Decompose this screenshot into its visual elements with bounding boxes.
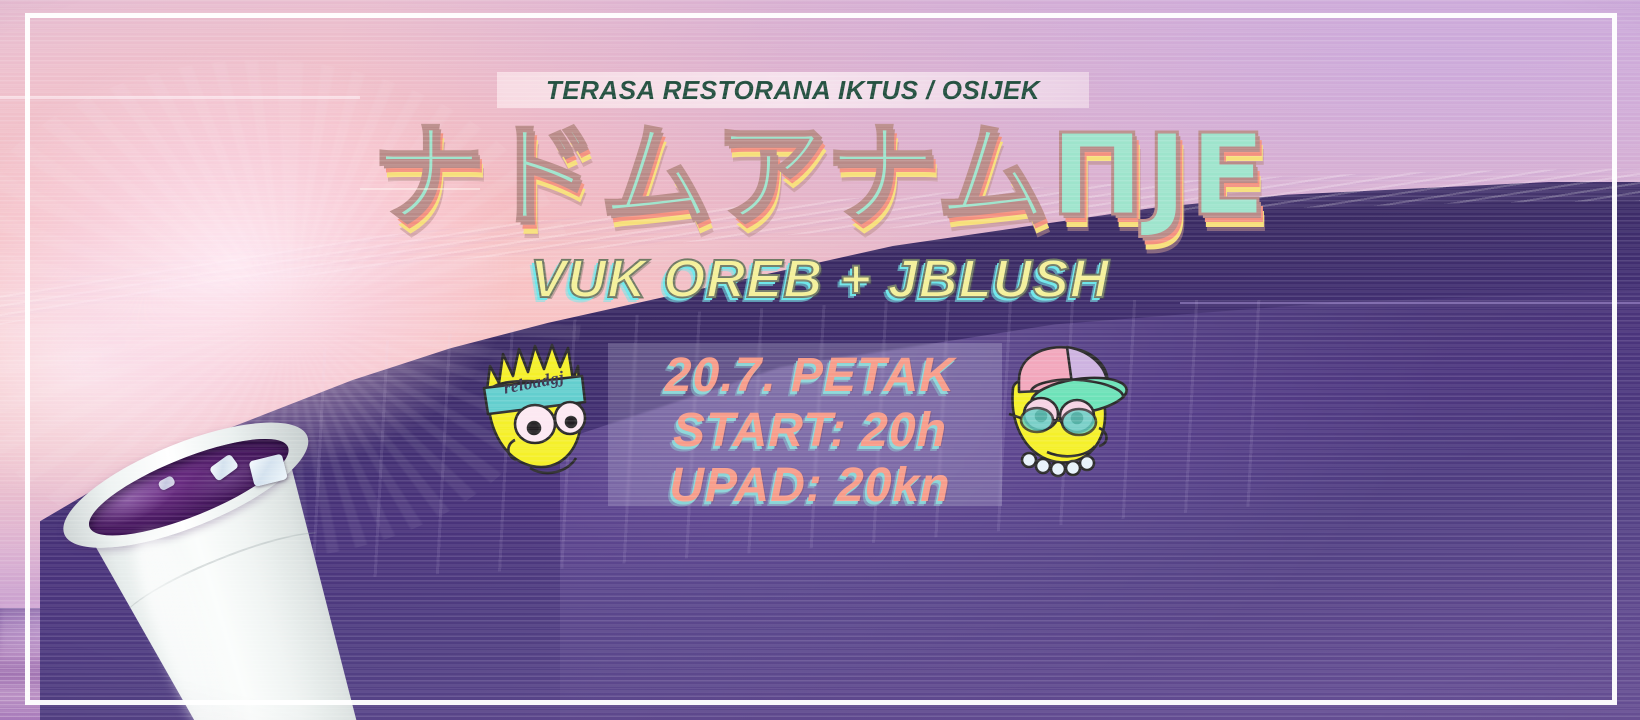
venue-band: TERASA RESTORANA IKTUS / OSIJEK [497, 72, 1089, 108]
venue-label: TERASA RESTORANA IKTUS / OSIJEK [546, 75, 1040, 106]
event-info-panel [608, 343, 1002, 506]
bart-simpson-sticker: reloadgj [472, 336, 594, 486]
event-poster: reloadgj [0, 0, 1640, 720]
simpson-bucket-hat-sticker [995, 336, 1135, 476]
